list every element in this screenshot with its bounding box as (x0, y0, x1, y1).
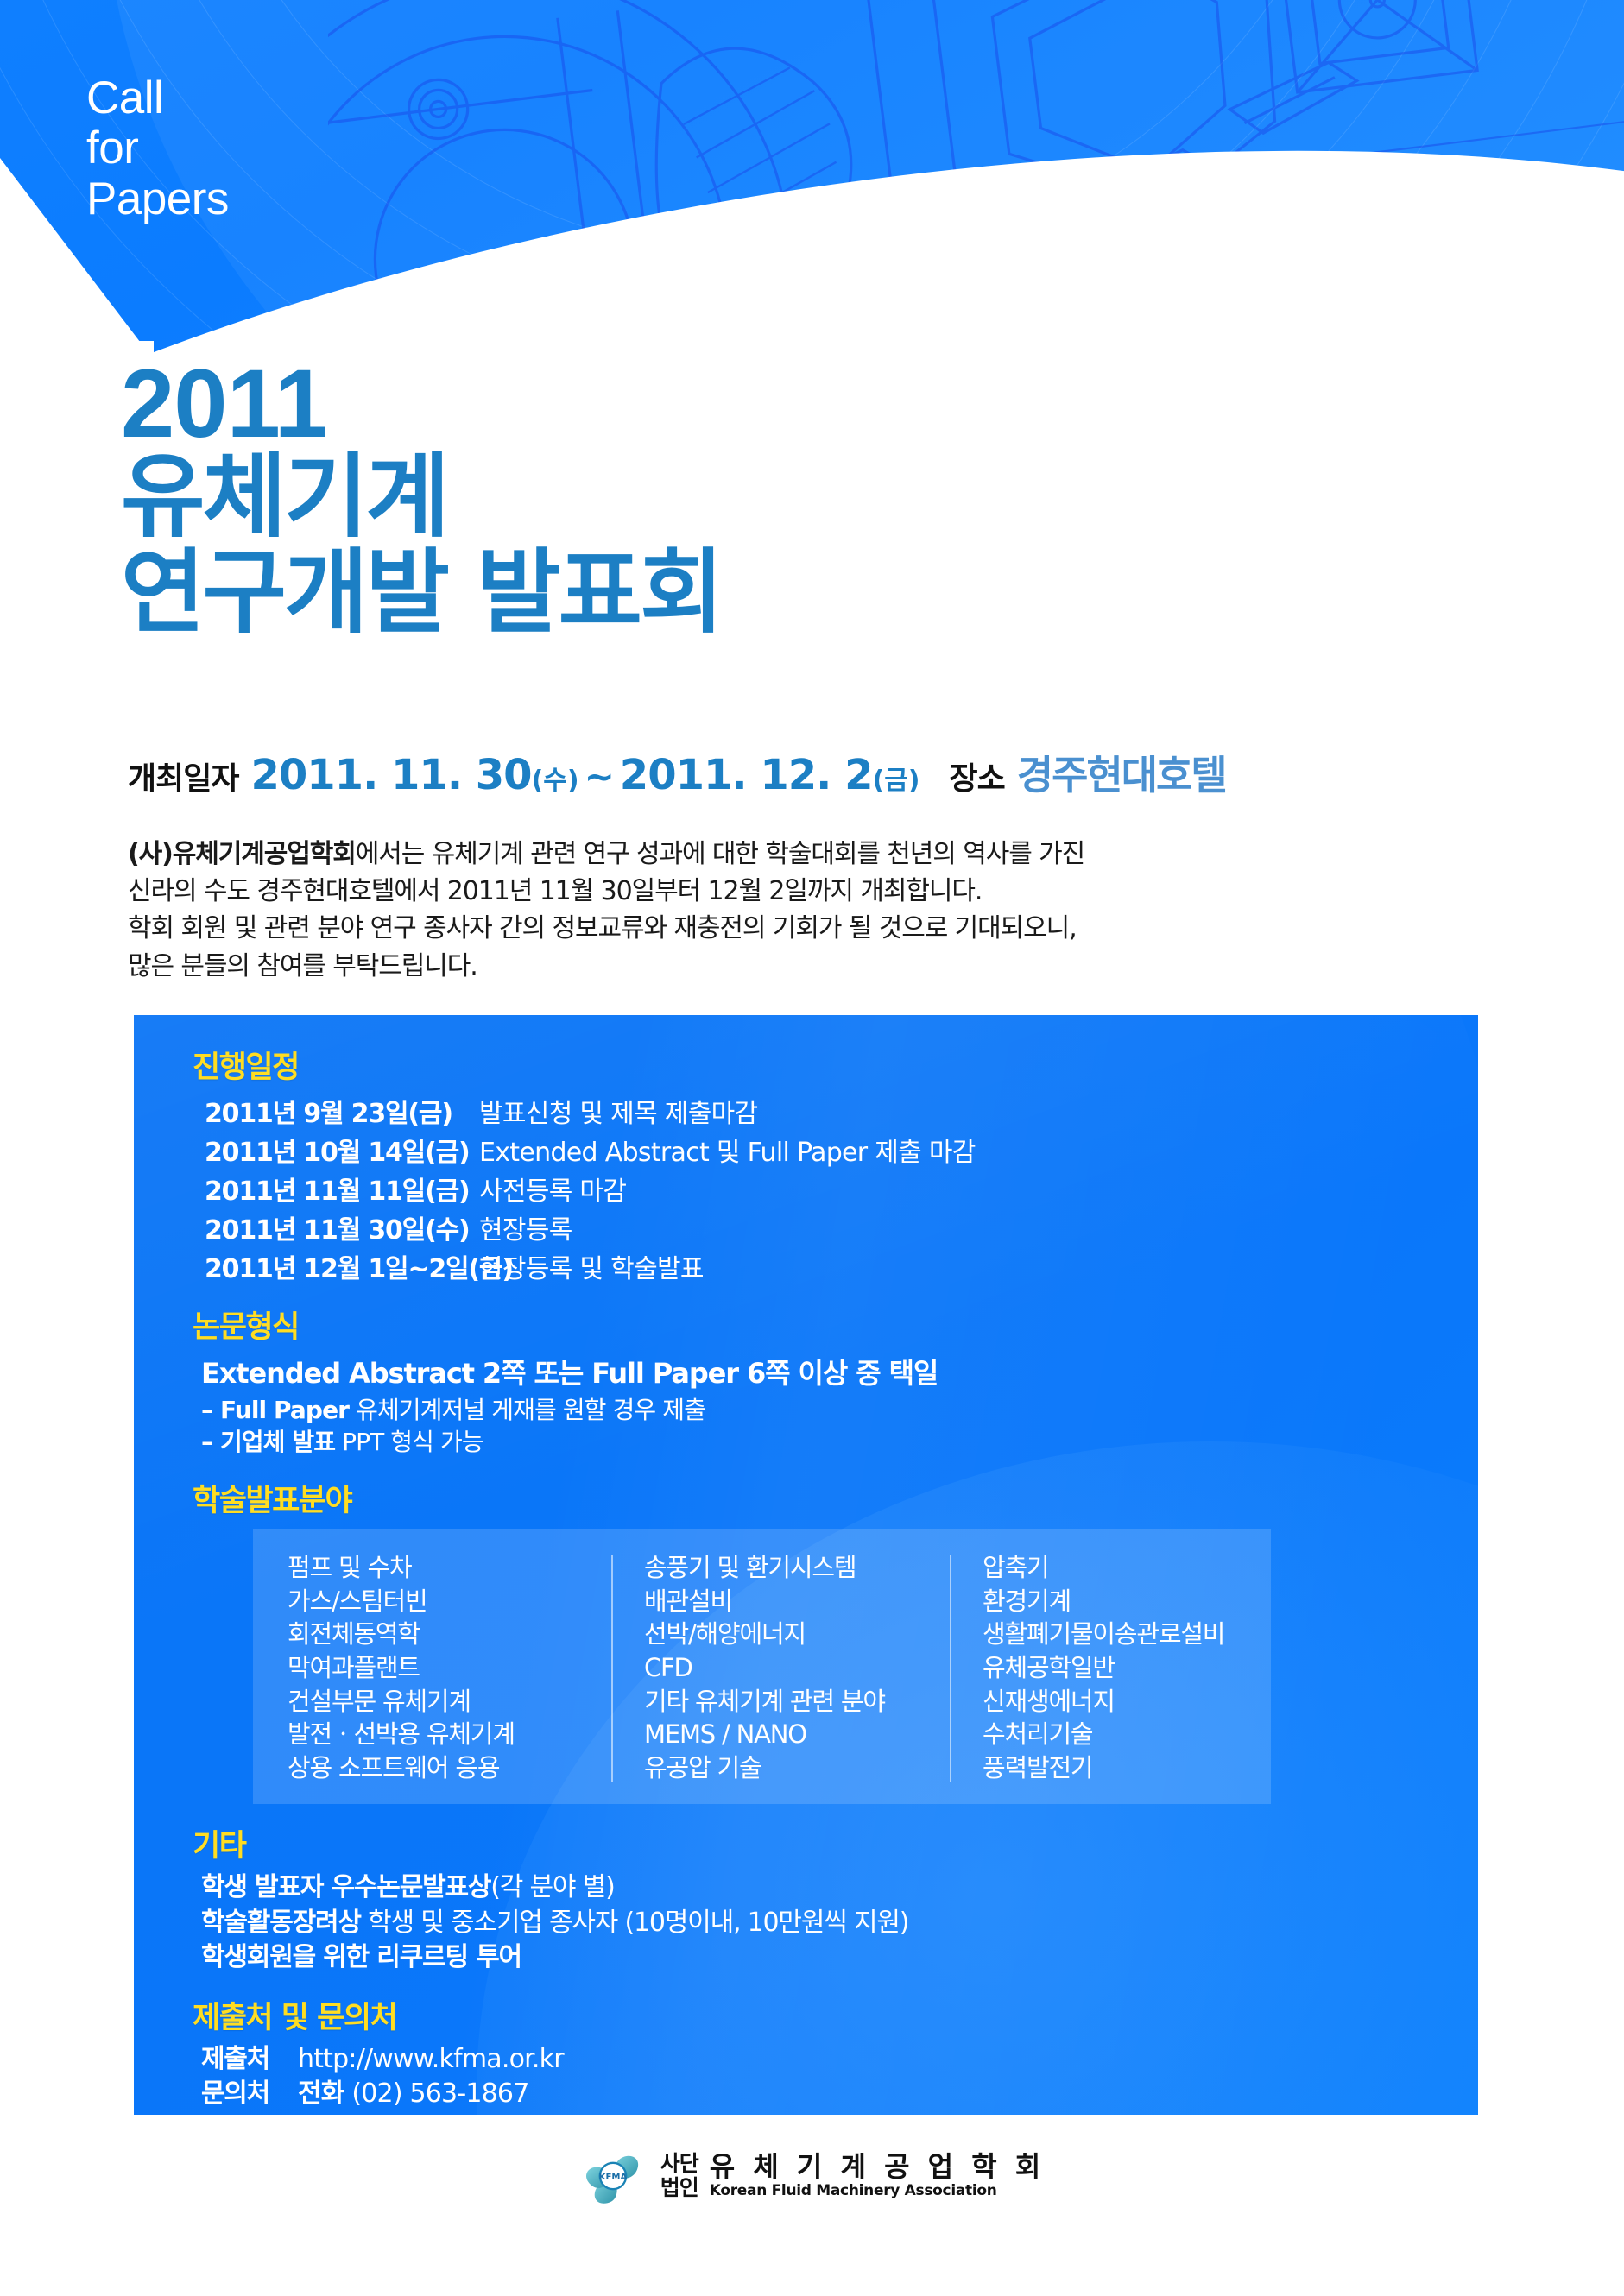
schedule-row: 2011년 12월 1일~2일(금) 현장등록 및 학술발표 (205, 1247, 1478, 1285)
schedule-heading: 진행일정 (193, 1043, 1478, 1087)
cfp-line-2: for (86, 123, 229, 173)
etc-heading: 기타 (193, 1821, 1478, 1865)
footer-sadan-beopin: 사단 법인 (660, 2152, 698, 2201)
info-panel: 진행일정 2011년 9월 23일(금) 발표신청 및 제목 제출마감 2011… (134, 1015, 1478, 2115)
footer-logo: KFMA 사단 법인 유 체 기 계 공 업 학 회 Korean Fluid … (0, 2142, 1624, 2210)
field-item: 발전ㆍ선박용 유체기계 (288, 1718, 611, 1751)
schedule-list: 2011년 9월 23일(금) 발표신청 및 제목 제출마감 2011년 10월… (205, 1092, 1478, 1285)
field-item: 가스/스팀터빈 (288, 1585, 611, 1618)
cfp-line-1: Call (86, 73, 229, 123)
schedule-date: 2011년 11월 11일(금) (205, 1170, 479, 1208)
tel-label: 전화 (298, 2078, 344, 2109)
poster-title: 2011 유체기계 연구개발 발표회 (121, 358, 722, 641)
paper-format-sub-2: – 기업체 발표 PPT 형식 가능 (201, 1427, 1478, 1459)
submit-url[interactable]: http://www.kfma.or.kr (298, 2042, 564, 2077)
etc-line-2-bold: 학술활동장려상 (201, 1908, 361, 1938)
contact-row-tel: 문의처 전화 (02) 563-1867 (201, 2077, 1478, 2111)
etc-line-2: 학술활동장려상 학생 및 중소기업 종사자 (10명이내, 10만원씩 지원) (201, 1906, 1478, 1941)
footer-en-name: Korean Fluid Machinery Association (710, 2182, 1046, 2199)
fields-column-3: 압축기 환경기계 생활폐기물이송관로설비 유체공학일반 신재생에너지 수처리기술… (950, 1551, 1271, 1785)
etc-line-1-rest: (각 분야 별) (490, 1872, 614, 1902)
title-line-2: 연구개발 발표회 (121, 545, 722, 641)
contact-row-fax: 팩스 (02) 563-1868 (298, 2112, 1478, 2115)
fax-label: 팩스 (298, 2114, 344, 2115)
footer-logo-text: 사단 법인 유 체 기 계 공 업 학 회 Korean Fluid Machi… (660, 2152, 1046, 2201)
fax-value: 팩스 (02) 563-1868 (298, 2112, 529, 2115)
contact-row-submit: 제출처 http://www.kfma.or.kr (201, 2042, 1478, 2077)
schedule-desc: 현장등록 및 학술발표 (479, 1247, 704, 1285)
schedule-desc: 현장등록 (479, 1208, 572, 1246)
cfp-line-3: Papers (86, 174, 229, 224)
field-item: 상용 소프트웨어 응용 (288, 1751, 611, 1785)
footer-beopin: 법인 (660, 2176, 698, 2201)
field-item: 배관설비 (644, 1585, 950, 1618)
inquiry-label: 문의처 (201, 2077, 298, 2111)
field-item: 건설부문 유체기계 (288, 1685, 611, 1719)
footer-names: 유 체 기 계 공 업 학 회 Korean Fluid Machinery A… (710, 2153, 1046, 2198)
intro-line-1: (사)유체기계공업학회에서는 유체기계 관련 연구 성과에 대한 학술대회를 천… (128, 836, 1380, 873)
contact-block: 제출처 및 문의처 제출처 http://www.kfma.or.kr 문의처 … (193, 1993, 1478, 2115)
date-start: 2011. 11. 30 (250, 751, 531, 799)
etc-block: 기타 학생 발표자 우수논문발표상(각 분야 별) 학술활동장려상 학생 및 중… (193, 1821, 1478, 1976)
paper-format-sub-1-rest: 유체기계저널 게재를 원할 경우 제출 (349, 1396, 705, 1424)
fields-table: 펌프 및 수차 가스/스팀터빈 회전체동역학 막여과플랜트 건설부문 유체기계 … (253, 1529, 1271, 1804)
title-line-1: 유체기계 (121, 449, 722, 546)
submit-label: 제출처 (201, 2042, 298, 2077)
schedule-row: 2011년 9월 23일(금) 발표신청 및 제목 제출마감 (205, 1092, 1478, 1130)
etc-line-3: 학생회원을 위한 리쿠르팅 투어 (201, 1940, 1478, 1976)
field-item: 회전체동역학 (288, 1618, 611, 1651)
intro-line-3: 학회 회원 및 관련 분야 연구 종사자 간의 정보교류와 재충전의 기회가 될… (128, 910, 1380, 947)
event-dateline: 개최일자2011. 11. 30(수)~2011. 12. 2(금)장소경주현대… (128, 744, 1226, 801)
etc-line-2-rest: 학생 및 중소기업 종사자 (10명이내, 10만원씩 지원) (361, 1908, 908, 1938)
tel-number: (02) 563-1867 (351, 2078, 528, 2109)
paper-format-block: 논문형식 Extended Abstract 2쪽 또는 Full Paper … (193, 1303, 1478, 1459)
field-item: 펌프 및 수차 (288, 1551, 611, 1585)
tel-value: 전화 (02) 563-1867 (298, 2077, 529, 2111)
field-item: CFD (644, 1651, 950, 1685)
date-end: 2011. 12. 2 (620, 751, 873, 799)
intro-line-4: 많은 분들의 참여를 부탁드립니다. (128, 948, 1380, 985)
schedule-date: 2011년 11월 30일(수) (205, 1208, 479, 1246)
intro-line-2: 신라의 수도 경주현대호텔에서 2011년 11월 30일부터 12월 2일까지… (128, 873, 1380, 910)
schedule-desc: Extended Abstract 및 Full Paper 제출 마감 (479, 1131, 976, 1169)
footer-kr-name: 유 체 기 계 공 업 학 회 (710, 2153, 1046, 2181)
fields-column-1: 펌프 및 수차 가스/스팀터빈 회전체동역학 막여과플랜트 건설부문 유체기계 … (253, 1551, 611, 1785)
date-label: 개최일자 (128, 761, 238, 797)
field-item: 유체공학일반 (983, 1651, 1271, 1685)
schedule-date: 2011년 9월 23일(금) (205, 1092, 479, 1130)
field-item: MEMS / NANO (644, 1718, 950, 1751)
fields-block: 학술발표분야 펌프 및 수차 가스/스팀터빈 회전체동역학 막여과플랜트 건설부… (193, 1476, 1478, 1804)
paper-format-main: Extended Abstract 2쪽 또는 Full Paper 6쪽 이상… (201, 1352, 1478, 1391)
footer-sadan: 사단 (660, 2152, 698, 2177)
intro-org-name: (사)유체기계공업학회 (128, 839, 356, 869)
field-item: 신재생에너지 (983, 1685, 1271, 1719)
paper-format-sub-1-bold: – Full Paper (201, 1396, 349, 1424)
fax-number: (02) 563-1868 (351, 2114, 528, 2115)
field-item: 환경기계 (983, 1585, 1271, 1618)
field-item: 막여과플랜트 (288, 1651, 611, 1685)
field-item: 생활폐기물이송관로설비 (983, 1618, 1271, 1651)
field-item: 수처리기술 (983, 1718, 1271, 1751)
field-item: 송풍기 및 환기시스템 (644, 1551, 950, 1585)
schedule-desc: 사전등록 마감 (479, 1170, 626, 1208)
field-item: 유공압 기술 (644, 1751, 950, 1785)
schedule-row: 2011년 11월 11일(금) 사전등록 마감 (205, 1170, 1478, 1208)
fields-heading: 학술발표분야 (193, 1476, 1478, 1520)
etc-line-1-bold: 학생 발표자 우수논문발표상 (201, 1872, 490, 1902)
kfma-badge-text: KFMA (598, 2173, 627, 2182)
field-item: 기타 유체기계 관련 분야 (644, 1685, 950, 1719)
date-range-tilde: ~ (585, 755, 615, 798)
paper-format-sub-1: – Full Paper 유체기계저널 게재를 원할 경우 제출 (201, 1395, 1478, 1427)
venue-name: 경주현대호텔 (1017, 752, 1226, 798)
call-for-papers-heading: Call for Papers (86, 73, 229, 224)
schedule-row: 2011년 11월 30일(수) 현장등록 (205, 1208, 1478, 1246)
schedule-date: 2011년 12월 1일~2일(금) (205, 1247, 479, 1285)
venue-label: 장소 (950, 761, 1005, 797)
schedule-desc: 발표신청 및 제목 제출마감 (479, 1092, 757, 1130)
field-item: 선박/해양에너지 (644, 1618, 950, 1651)
title-year: 2011 (121, 358, 722, 449)
kfma-logo-icon: KFMA (579, 2142, 647, 2210)
fields-column-2: 송풍기 및 환기시스템 배관설비 선박/해양에너지 CFD 기타 유체기계 관련… (611, 1551, 950, 1785)
field-item: 풍력발전기 (983, 1751, 1271, 1785)
field-item: 압축기 (983, 1551, 1271, 1585)
paper-format-sub-2-bold: – 기업체 발표 (201, 1428, 335, 1456)
schedule-date: 2011년 10월 14일(금) (205, 1131, 479, 1169)
etc-line-1: 학생 발표자 우수논문발표상(각 분야 별) (201, 1870, 1478, 1906)
intro-paragraph: (사)유체기계공업학회에서는 유체기계 관련 연구 성과에 대한 학술대회를 천… (128, 836, 1380, 985)
paper-format-heading: 논문형식 (193, 1303, 1478, 1347)
schedule-row: 2011년 10월 14일(금) Extended Abstract 및 Ful… (205, 1131, 1478, 1169)
contact-heading: 제출처 및 문의처 (193, 1993, 1478, 2037)
date-end-weekday: (금) (872, 766, 919, 796)
date-start-weekday: (수) (532, 766, 579, 796)
intro-line-1-rest: 에서는 유체기계 관련 연구 성과에 대한 학술대회를 천년의 역사를 가진 (356, 839, 1084, 869)
paper-format-sub-2-rest: PPT 형식 가능 (335, 1428, 483, 1456)
contact-list: 제출처 http://www.kfma.or.kr 문의처 전화 (02) 56… (201, 2042, 1478, 2115)
